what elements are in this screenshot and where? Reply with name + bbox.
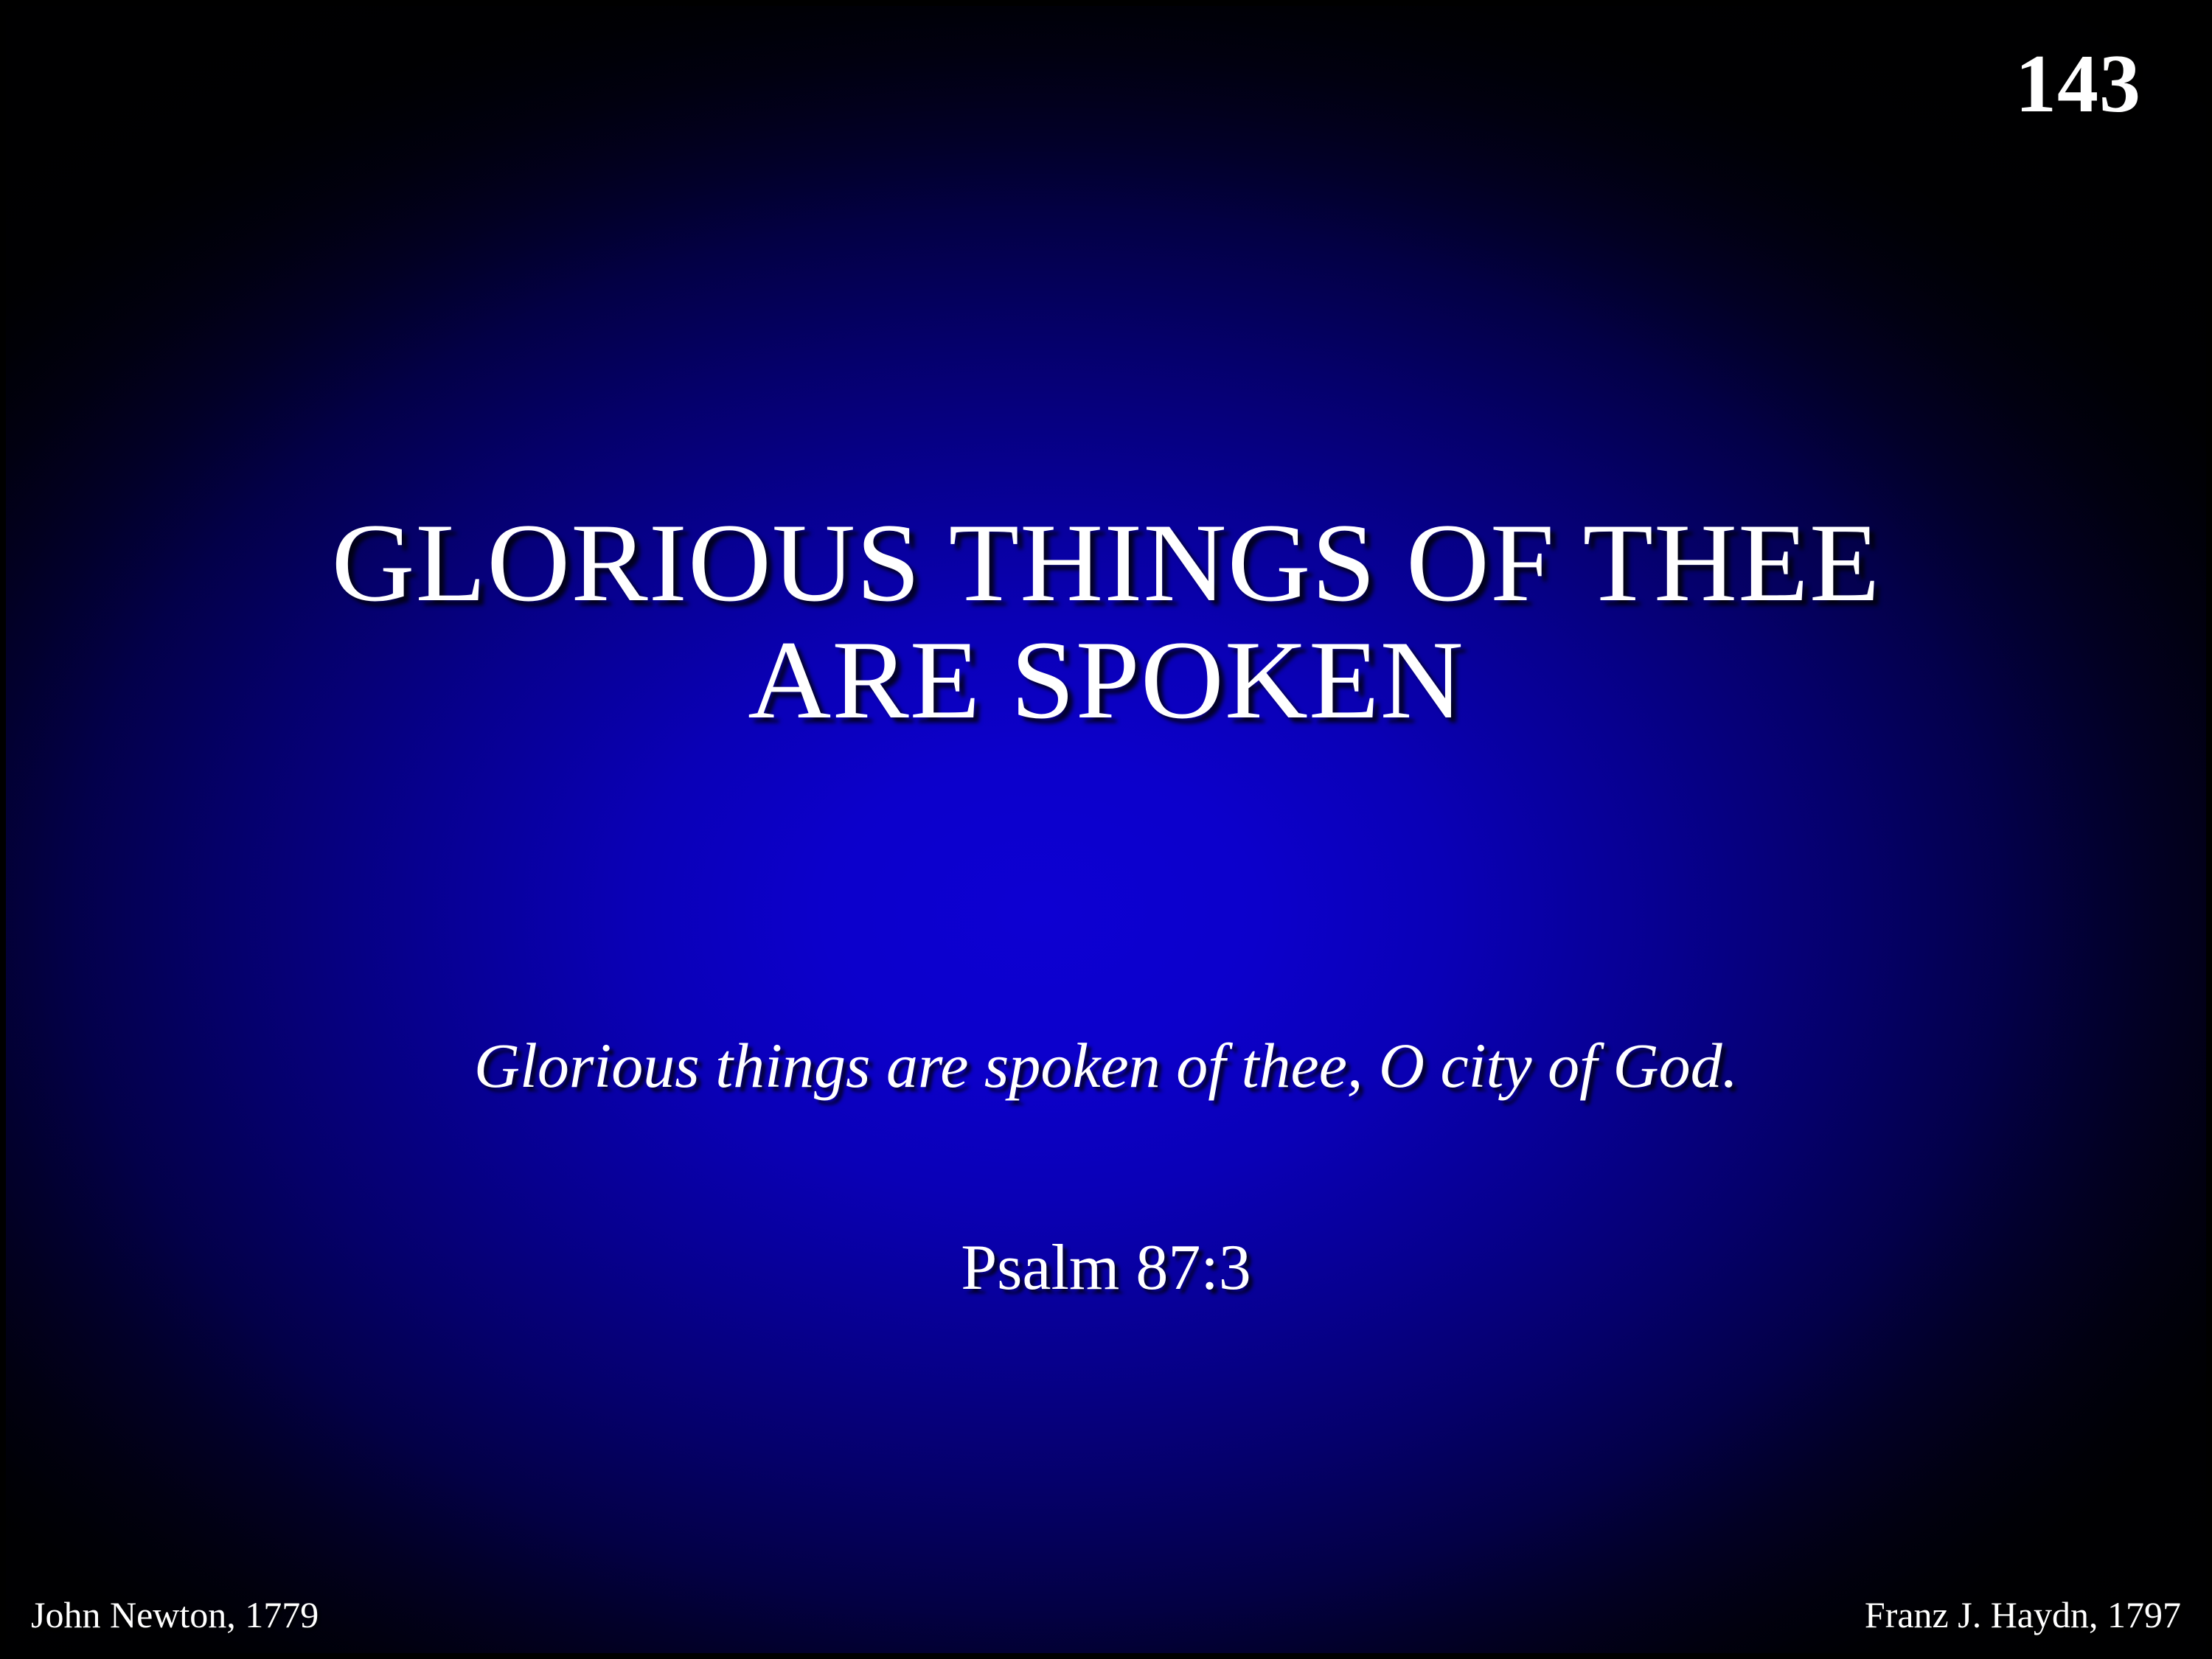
hymn-title: GLORIOUS THINGS OF THEE ARE SPOKEN	[0, 506, 2212, 737]
hymn-slide: 143 GLORIOUS THINGS OF THEE ARE SPOKEN G…	[0, 0, 2212, 1659]
hymn-title-line-1: GLORIOUS THINGS OF THEE	[0, 506, 2212, 620]
hymn-number: 143	[2015, 43, 2141, 125]
scripture-text: Glorious things are spoken of thee, O ci…	[0, 1031, 2212, 1101]
slide-background	[6, 6, 2206, 1653]
hymn-title-line-2: ARE SPOKEN	[0, 623, 2212, 737]
scripture-reference: Psalm 87:3	[0, 1233, 2212, 1304]
credit-author: John Newton, 1779	[31, 1595, 319, 1635]
credit-composer: Franz J. Haydn, 1797	[1865, 1595, 2181, 1635]
